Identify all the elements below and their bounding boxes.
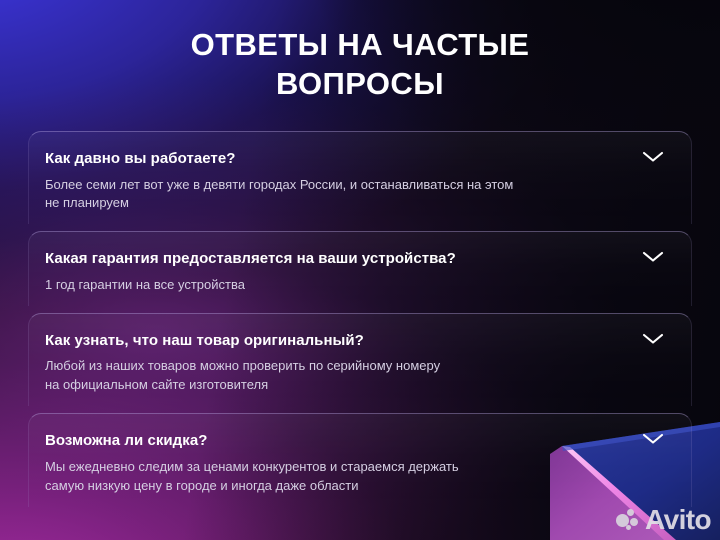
page-title-line-2: ВОПРОСЫ xyxy=(276,66,444,101)
faq-item[interactable]: Какая гарантия предоставляется на ваши у… xyxy=(28,231,692,305)
avito-wordmark: Avito xyxy=(645,506,711,534)
faq-answer: Любой из наших товаров можно проверить п… xyxy=(45,357,630,395)
avito-dot-small-b xyxy=(630,518,638,526)
page-title: ОТВЕТЫ НА ЧАСТЫЕ ВОПРОСЫ xyxy=(0,25,720,103)
content-layer: ОТВЕТЫ НА ЧАСТЫЕ ВОПРОСЫ Как давно вы ра… xyxy=(0,0,720,540)
avito-watermark: Avito xyxy=(616,506,711,534)
chevron-down-icon[interactable] xyxy=(640,248,666,264)
faq-question: Возможна ли скидка? xyxy=(45,431,207,451)
faq-question-row[interactable]: Возможна ли скидка? xyxy=(45,431,633,451)
faq-answer: 1 год гарантии на все устройства xyxy=(45,276,630,295)
chevron-down-icon[interactable] xyxy=(640,148,666,164)
avito-dots-icon xyxy=(616,509,641,531)
faq-item[interactable]: Возможна ли скидка? Мы ежедневно следим … xyxy=(28,413,692,506)
avito-dot-small-a xyxy=(627,509,634,516)
faq-question: Как узнать, что наш товар оригинальный? xyxy=(45,331,364,351)
faq-item[interactable]: Как узнать, что наш товар оригинальный? … xyxy=(28,313,692,406)
faq-item[interactable]: Как давно вы работаете? Более семи лет в… xyxy=(28,131,692,224)
faq-question-row[interactable]: Какая гарантия предоставляется на ваши у… xyxy=(45,249,633,269)
avito-dot-small-c xyxy=(626,525,631,530)
faq-question-row[interactable]: Как давно вы работаете? xyxy=(45,149,633,169)
faq-answer: Мы ежедневно следим за ценами конкуренто… xyxy=(45,458,630,496)
chevron-down-icon[interactable] xyxy=(640,330,666,346)
faq-list: Как давно вы работаете? Более семи лет в… xyxy=(28,131,692,507)
faq-answer: Более семи лет вот уже в девяти городах … xyxy=(45,176,630,214)
page-title-line-1: ОТВЕТЫ НА ЧАСТЫЕ xyxy=(191,27,530,62)
faq-question-row[interactable]: Как узнать, что наш товар оригинальный? xyxy=(45,331,633,351)
faq-question: Как давно вы работаете? xyxy=(45,149,235,169)
chevron-down-icon[interactable] xyxy=(640,430,666,446)
faq-question: Какая гарантия предоставляется на ваши у… xyxy=(45,249,456,269)
faq-screen: ОТВЕТЫ НА ЧАСТЫЕ ВОПРОСЫ Как давно вы ра… xyxy=(0,0,720,540)
